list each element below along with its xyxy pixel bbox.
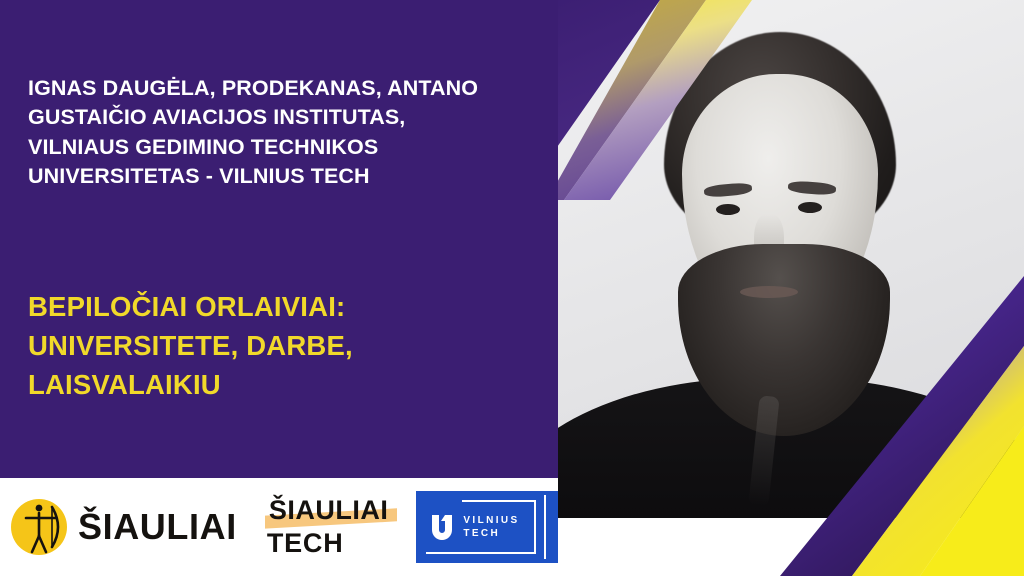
portrait-eye-left xyxy=(716,204,740,215)
talk-title-headline: BEPILOČIAI ORLAIVIAI: UNIVERSITETE, DARB… xyxy=(28,287,538,404)
logo-frame-top-line xyxy=(462,500,536,502)
logo-siauliai-tech: ŠIAULIAI TECH xyxy=(267,497,391,557)
speaker-line-4: UNIVERSITETAS - VILNIUS TECH xyxy=(28,162,538,191)
logo-frame-outer-line xyxy=(544,495,546,559)
logo-siauliai-tech-line1-wrap: ŠIAULIAI xyxy=(267,497,391,524)
archer-badge-icon xyxy=(8,494,74,560)
portrait-eye-right xyxy=(798,202,822,213)
logo-siauliai-tech-line1: ŠIAULIAI xyxy=(269,495,389,525)
headline-line-1: BEPILOČIAI ORLAIVIAI: xyxy=(28,287,538,326)
logo-siauliai-tech-line2: TECH xyxy=(267,530,391,557)
presentation-slide: IGNAS DAUGĖLA, PRODEKANAS, ANTANO GUSTAI… xyxy=(0,0,1024,576)
logo-siauliai: ŠIAULIAI xyxy=(8,494,237,560)
headline-line-2: UNIVERSITETE, DARBE, xyxy=(28,326,538,365)
content-panel xyxy=(0,0,558,478)
logo-vilnius-tech-wordmark: VILNIUS TECH xyxy=(463,514,519,541)
portrait-mouth xyxy=(740,286,798,298)
logo-frame-right-line xyxy=(534,500,536,554)
speaker-line-3: VILNIAUS GEDIMINO TECHNIKOS xyxy=(28,133,538,162)
logo-vilnius-tech: VILNIUS TECH xyxy=(416,491,558,563)
vilnius-tech-u-mark-icon xyxy=(430,513,454,541)
sponsor-logo-bar: ŠIAULIAI ŠIAULIAI TECH VILNIUS TECH xyxy=(0,478,558,576)
speaker-line-1: IGNAS DAUGĖLA, PRODEKANAS, ANTANO xyxy=(28,74,538,103)
headline-line-3: LAISVALAIKIU xyxy=(28,365,538,404)
speaker-portrait-photo xyxy=(558,0,1024,518)
logo-siauliai-wordmark: ŠIAULIAI xyxy=(78,509,237,545)
logo-vilnius-tech-line2: TECH xyxy=(463,527,519,541)
speaker-affiliation-text: IGNAS DAUGĖLA, PRODEKANAS, ANTANO GUSTAI… xyxy=(28,74,538,192)
logo-frame-bottom-line xyxy=(426,552,536,554)
speaker-line-2: GUSTAIČIO AVIACIJOS INSTITUTAS, xyxy=(28,103,538,132)
logo-vilnius-tech-line1: VILNIUS xyxy=(463,514,519,528)
photo-backdrop xyxy=(558,0,1024,518)
